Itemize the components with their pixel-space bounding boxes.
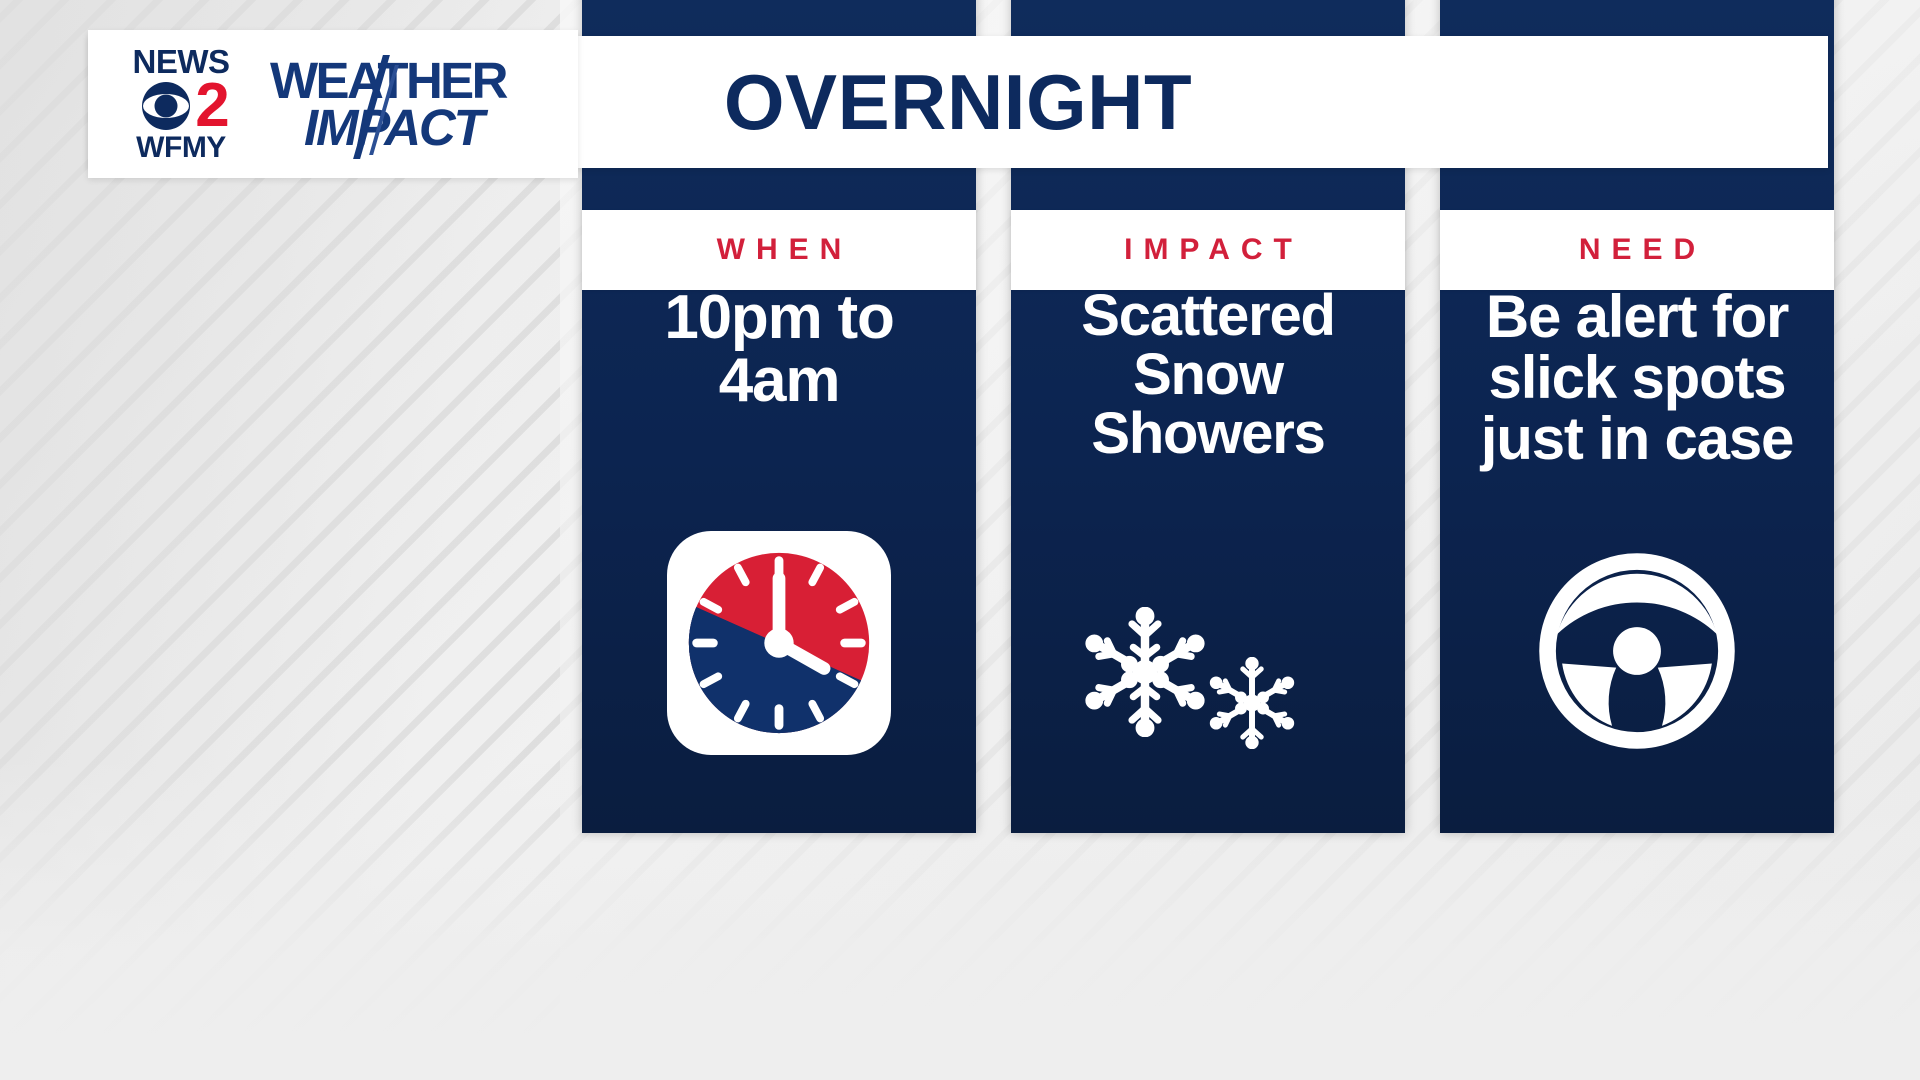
column-icon-impact <box>1011 605 1405 755</box>
column-label: WHEN <box>706 233 853 267</box>
column-label: IMPACT <box>1113 233 1303 267</box>
column-label: NEED <box>1568 233 1706 267</box>
headline-line: Be alert for <box>1440 286 1834 347</box>
station-callsign: WFMY <box>136 133 226 163</box>
cbs-eye-icon <box>135 81 197 131</box>
column-headline-need: Be alert for slick spots just in case <box>1440 286 1834 470</box>
column-icon-when <box>582 531 976 755</box>
column-headline-impact: Scattered Snow Showers <box>1011 286 1405 463</box>
snowflake-small-icon <box>1206 657 1298 749</box>
column-header-when: WHEN <box>582 210 976 290</box>
headline-line: Showers <box>1011 404 1405 463</box>
snowflake-large-icon <box>1080 607 1210 737</box>
headline-line: Snow <box>1011 345 1405 404</box>
wordmark-impact: IMPACT <box>304 106 506 150</box>
snowflakes-icon <box>1078 605 1338 755</box>
column-header-impact: IMPACT <box>1011 210 1405 290</box>
station-number: 2 <box>195 80 226 133</box>
station-logo: NEWS 2 WFMY WEATHER IMPACT <box>88 30 578 178</box>
cbs-station-mark: NEWS 2 WFMY <box>106 45 256 164</box>
headline-line: Scattered <box>1011 286 1405 345</box>
headline-line: 10pm to <box>582 286 976 349</box>
weather-impact-wordmark: WEATHER IMPACT <box>270 59 506 150</box>
headline-line: just in case <box>1440 408 1834 469</box>
column-header-need: NEED <box>1440 210 1834 290</box>
weather-impact-graphic: 10pm to 4am <box>0 0 1920 1080</box>
column-headline-when: 10pm to 4am <box>582 286 976 412</box>
clock-icon <box>667 531 891 755</box>
headline-line: 4am <box>582 349 976 412</box>
headline-line: slick spots <box>1440 347 1834 408</box>
steering-wheel-icon <box>1533 547 1741 755</box>
column-icon-need <box>1440 547 1834 755</box>
